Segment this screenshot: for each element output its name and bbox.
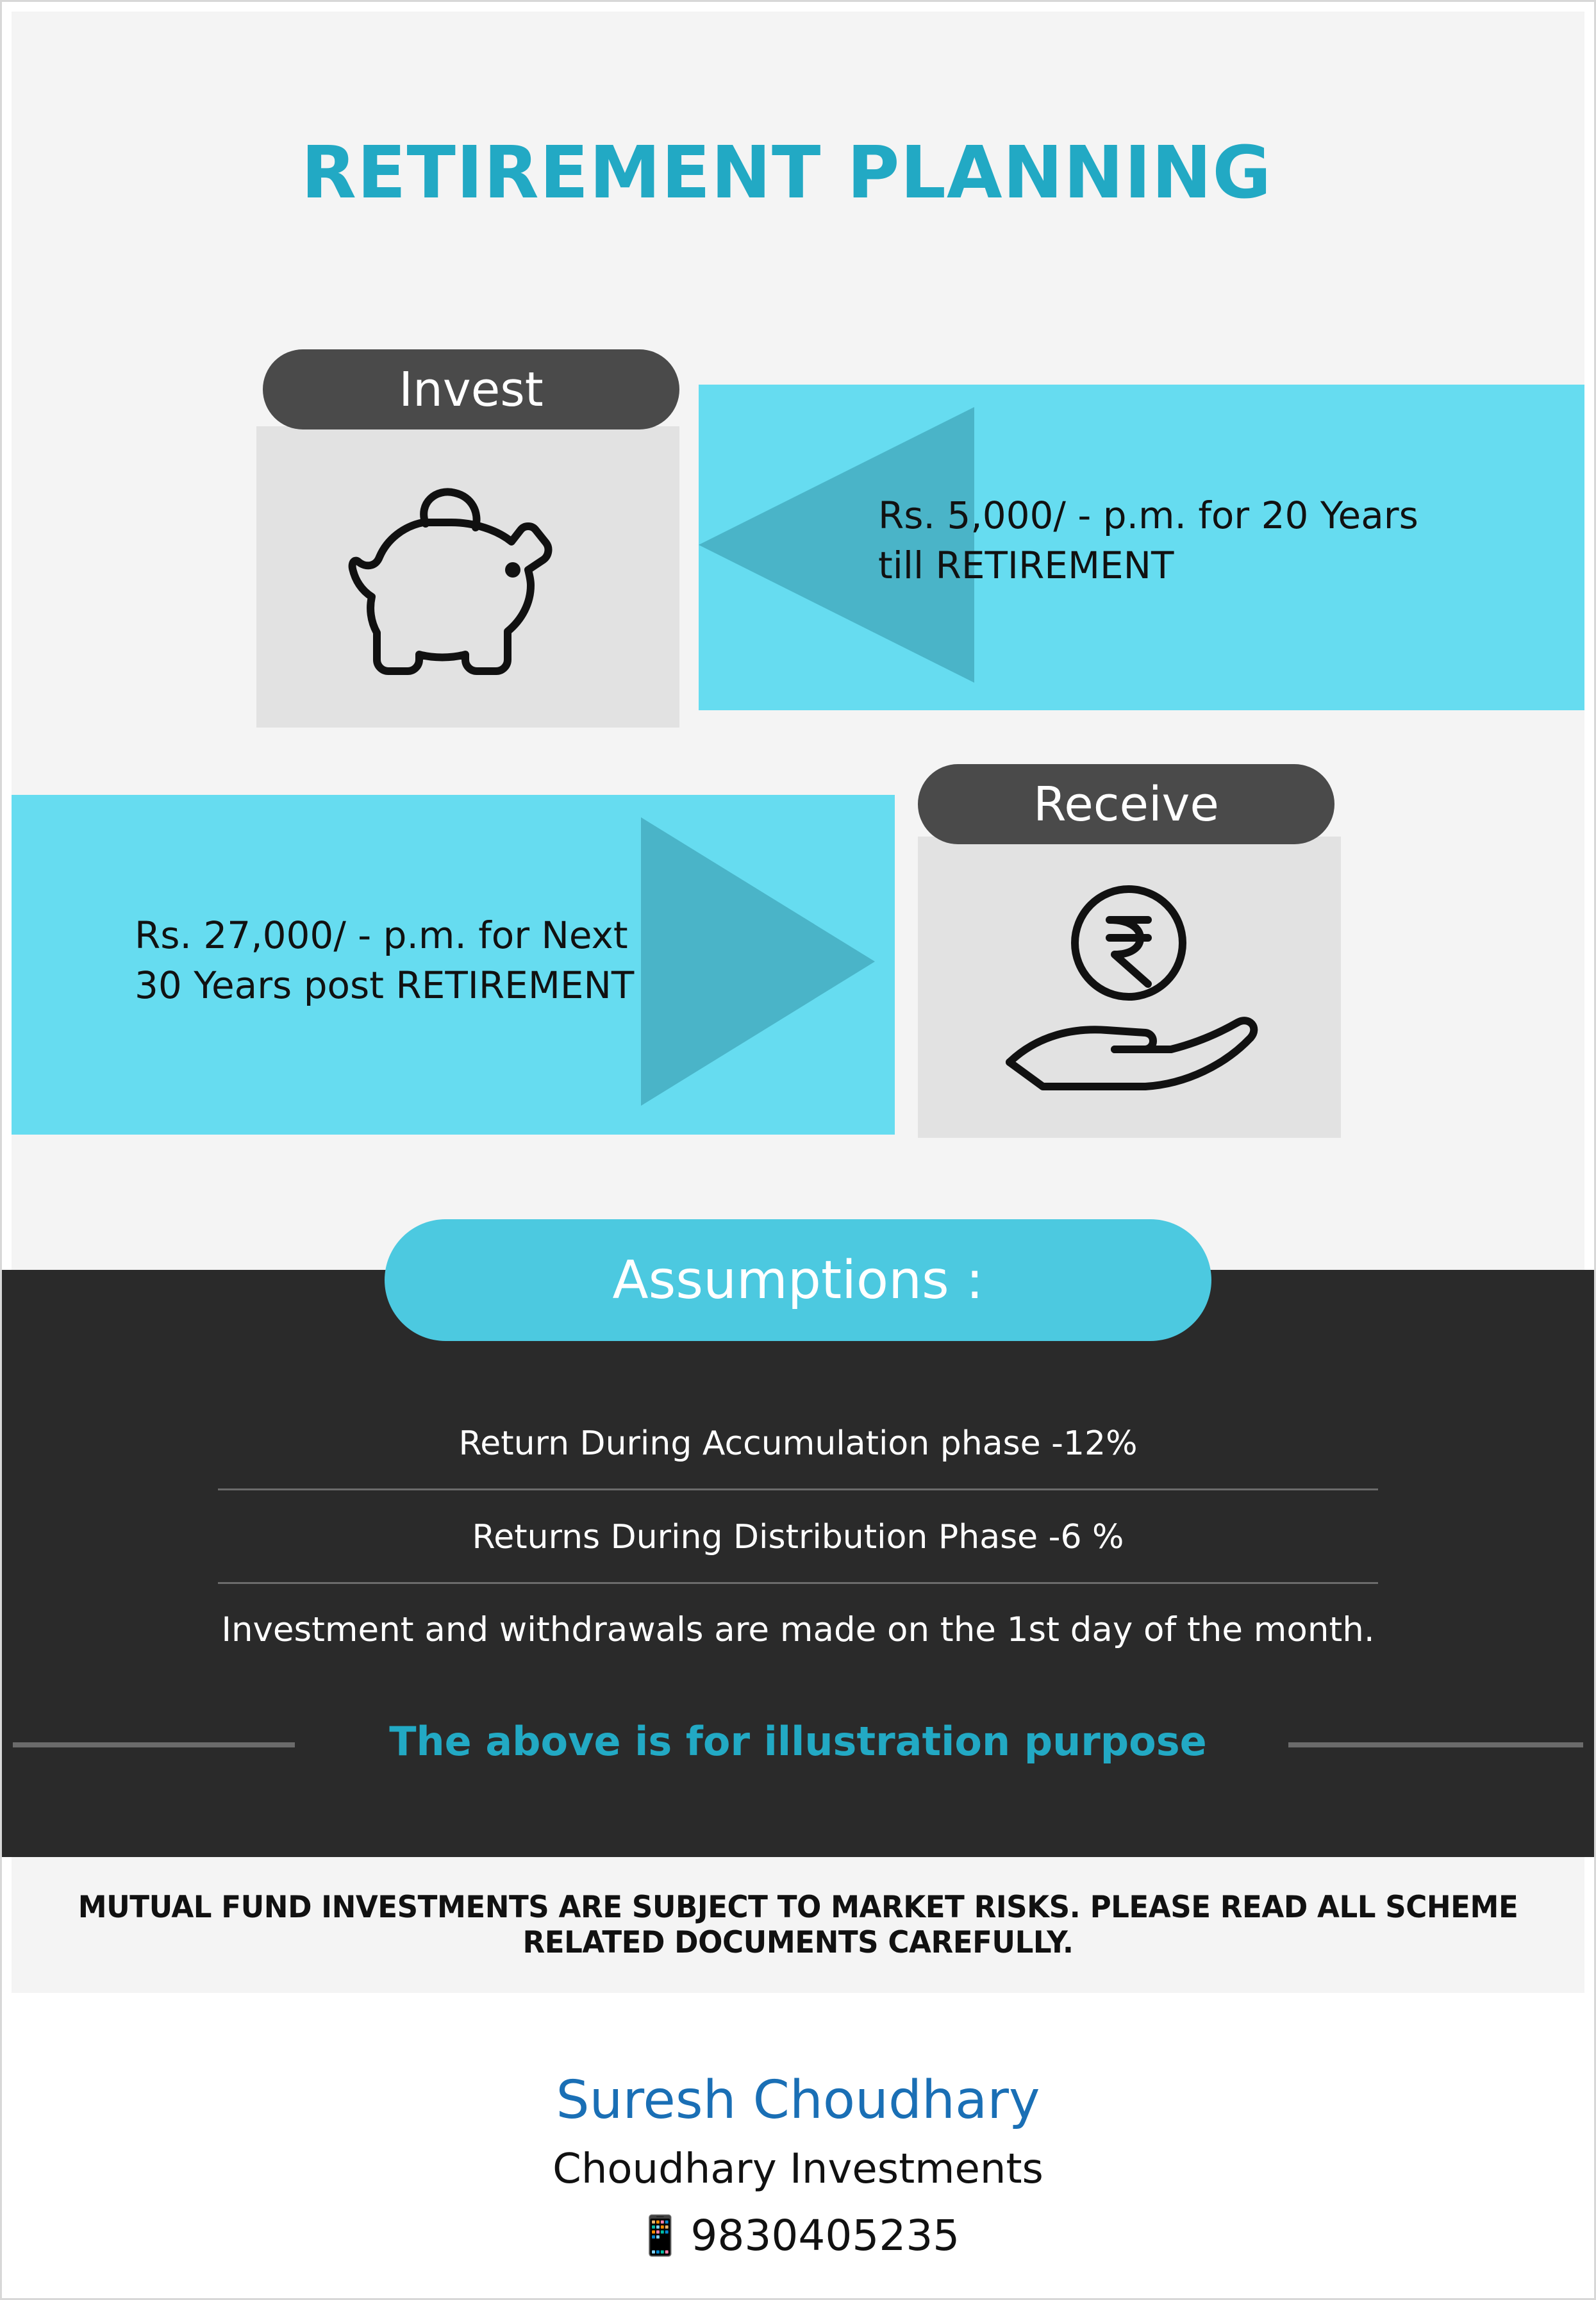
footer: Suresh Choudhary Choudhary Investments 📱… (12, 1993, 1584, 2288)
invest-pill: Invest (263, 349, 679, 429)
assumption-item-3: Investment and withdrawals are made on t… (0, 1610, 1596, 1649)
firm-name: Choudhary Investments (12, 2146, 1584, 2193)
disclaimer-band: MUTUAL FUND INVESTMENTS ARE SUBJECT TO M… (12, 1857, 1584, 1993)
assumptions-heading-pill: Assumptions : (385, 1219, 1211, 1341)
receive-arrow-text-line2: 30 Years post RETIREMENT (135, 960, 776, 1010)
receive-arrow-text-line1: Rs. 27,000/ - p.m. for Next (135, 910, 776, 960)
receive-pill: Receive (918, 764, 1334, 844)
phone-row: 📱 9830405235 (12, 2211, 1584, 2260)
invest-arrow-text-line1: Rs. 5,000/ - p.m. for 20 Years (878, 490, 1525, 540)
assumptions-heading-label: Assumptions : (613, 1250, 984, 1311)
receive-arrow-text: Rs. 27,000/ - p.m. for Next 30 Years pos… (135, 910, 776, 1011)
invest-arrow-text-line2: till RETIREMENT (878, 540, 1525, 590)
page-title: RETIREMENT PLANNING (0, 131, 1573, 215)
adviser-name: Suresh Choudhary (12, 2070, 1584, 2131)
rupee-in-hand-icon (918, 853, 1341, 1128)
illustration-note-line-right (1288, 1742, 1583, 1747)
assumption-item-2: Returns During Distribution Phase -6 % (0, 1518, 1596, 1556)
disclaimer-text: MUTUAL FUND INVESTMENTS ARE SUBJECT TO M… (43, 1890, 1553, 1960)
illustration-note: The above is for illustration purpose (0, 1718, 1596, 1765)
assumption-divider-2 (218, 1582, 1378, 1584)
phone-number: 9830405235 (690, 2211, 960, 2260)
invest-arrow-text: Rs. 5,000/ - p.m. for 20 Years till RETI… (878, 490, 1525, 591)
receive-pill-label: Receive (1033, 781, 1219, 828)
assumptions-section (0, 1270, 1596, 1857)
assumption-item-1: Return During Accumulation phase -12% (0, 1424, 1596, 1463)
infographic-page: RETIREMENT PLANNING Invest Rs. 5,000/ - … (0, 0, 1596, 2300)
mobile-phone-icon: 📱 (636, 2217, 685, 2255)
invest-pill-label: Invest (399, 366, 544, 413)
assumption-divider-1 (218, 1488, 1378, 1490)
piggy-bank-icon (256, 449, 679, 718)
